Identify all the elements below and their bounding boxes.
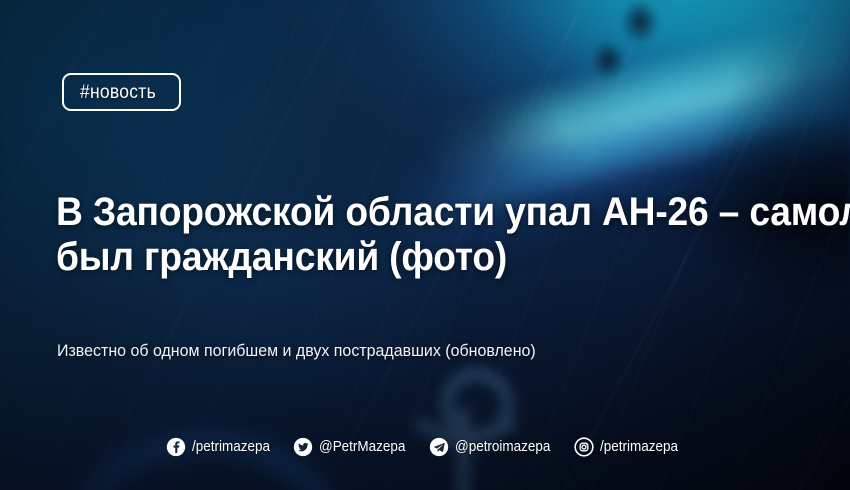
telegram-icon xyxy=(429,437,449,457)
headline: В Запорожской области упал АН-26 – самол… xyxy=(56,190,744,280)
social-link-twitter[interactable]: @PetrMazepa xyxy=(293,437,412,457)
social-link-telegram[interactable]: @petroimazepa xyxy=(429,437,558,457)
news-card: #новость В Запорожской области упал АН-2… xyxy=(0,0,850,490)
social-link-facebook[interactable]: /petrimazepa xyxy=(166,437,276,457)
social-link-instagram[interactable]: /petrimazepa xyxy=(574,437,684,457)
headline-line-2: был гражданский (фото) xyxy=(56,235,744,280)
social-handle-twitter: @PetrMazepa xyxy=(319,440,405,455)
social-handle-instagram: /petrimazepa xyxy=(600,440,678,455)
subtitle: Известно об одном погибшем и двух постра… xyxy=(57,340,536,362)
headline-line-1: В Запорожской области упал АН-26 – самол… xyxy=(56,190,744,235)
card-content: #новость В Запорожской области упал АН-2… xyxy=(0,0,850,490)
social-handle-facebook: /petrimazepa xyxy=(192,440,270,455)
twitter-icon xyxy=(293,437,313,457)
instagram-icon xyxy=(574,437,594,457)
social-handle-telegram: @petroimazepa xyxy=(455,440,550,455)
facebook-icon xyxy=(166,437,186,457)
category-badge-label: #новость xyxy=(80,83,156,102)
social-bar: /petrimazepa @PetrMazepa @petroimazepa xyxy=(0,434,850,460)
category-badge[interactable]: #новость xyxy=(62,73,181,111)
